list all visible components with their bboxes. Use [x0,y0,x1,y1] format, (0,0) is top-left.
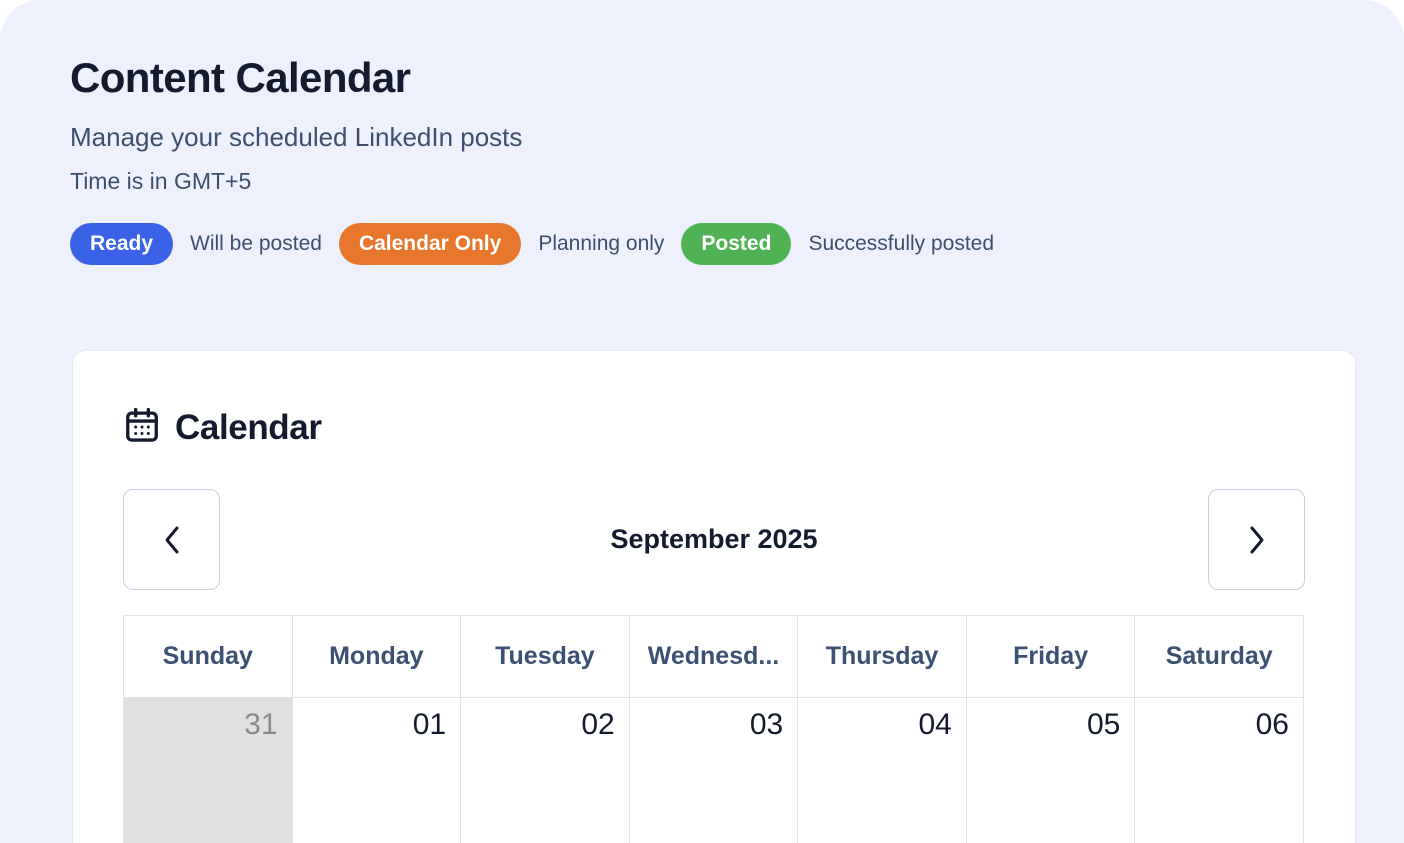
calendar-day-cell[interactable]: 03 [629,698,798,843]
weekday-header-friday: Friday [966,616,1135,698]
page-title: Content Calendar [70,56,1404,100]
status-badge-ready: Ready [70,223,173,265]
weekday-header-row: Sunday Monday Tuesday Wednesd... Thursda… [124,616,1304,698]
weekday-header-saturday: Saturday [1135,616,1304,698]
weekday-header-tuesday: Tuesday [461,616,630,698]
status-badge-calendar-only: Calendar Only [339,223,521,265]
weekday-header-sunday: Sunday [124,616,293,698]
chevron-right-icon [1246,523,1268,557]
weekday-header-wednesday: Wednesd... [629,616,798,698]
status-desc-calendar-only: Planning only [538,232,664,256]
prev-month-button[interactable] [123,489,220,590]
timezone-label: Time is in GMT+5 [70,168,1404,196]
calendar-day-cell[interactable]: 02 [461,698,630,843]
calendar-card-header: Calendar [73,351,1355,449]
status-desc-ready: Will be posted [190,232,322,256]
weekday-header-monday: Monday [292,616,461,698]
current-month-label: September 2025 [610,524,817,555]
page-subtitle: Manage your scheduled LinkedIn posts [70,122,1404,153]
page-header: Content Calendar Manage your scheduled L… [0,0,1404,265]
month-navigation: September 2025 [123,489,1305,590]
calendar-day-cell[interactable]: 06 [1135,698,1304,843]
calendar-card-title: Calendar [175,408,322,448]
status-desc-posted: Successfully posted [808,232,994,256]
page-panel: Content Calendar Manage your scheduled L… [0,0,1404,843]
calendar-day-cell[interactable]: 05 [966,698,1135,843]
weekday-header-thursday: Thursday [798,616,967,698]
calendar-week-row: 31 01 02 03 04 05 06 [124,698,1304,843]
calendar-icon [123,406,161,449]
calendar-day-cell[interactable]: 31 [124,698,293,843]
calendar-day-cell[interactable]: 04 [798,698,967,843]
calendar-day-cell[interactable]: 01 [292,698,461,843]
next-month-button[interactable] [1208,489,1305,590]
status-legend: Ready Will be posted Calendar Only Plann… [70,223,1404,265]
chevron-left-icon [161,523,183,557]
status-badge-posted: Posted [681,223,791,265]
calendar-card: Calendar September 2025 [72,350,1356,843]
calendar-grid: Sunday Monday Tuesday Wednesd... Thursda… [123,615,1304,843]
